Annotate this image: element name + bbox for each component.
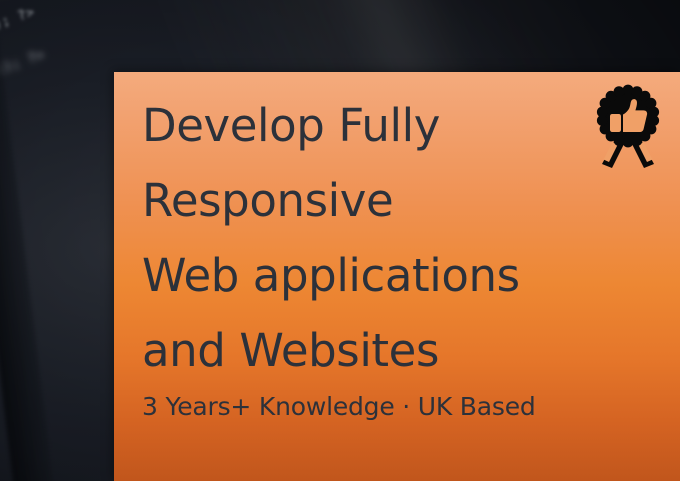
headline-line-2: Responsive: [142, 163, 622, 238]
headline-line-3: Web applications: [142, 238, 622, 313]
orange-overlay-panel: Develop Fully Responsive Web application…: [114, 72, 680, 481]
subtitle-text: 3 Years+ Knowledge · UK Based: [142, 390, 536, 424]
thumbs-up-award-rosette-icon: [590, 82, 666, 168]
banner-canvas: wp_enqueue_style( 'style' );<?php langua…: [0, 0, 680, 481]
panel-content: Develop Fully Responsive Web application…: [128, 72, 680, 481]
headline-line-1: Develop Fully: [142, 88, 622, 163]
headline-line-4: and Websites: [142, 313, 622, 388]
page-title: Develop Fully Responsive Web application…: [142, 88, 622, 388]
